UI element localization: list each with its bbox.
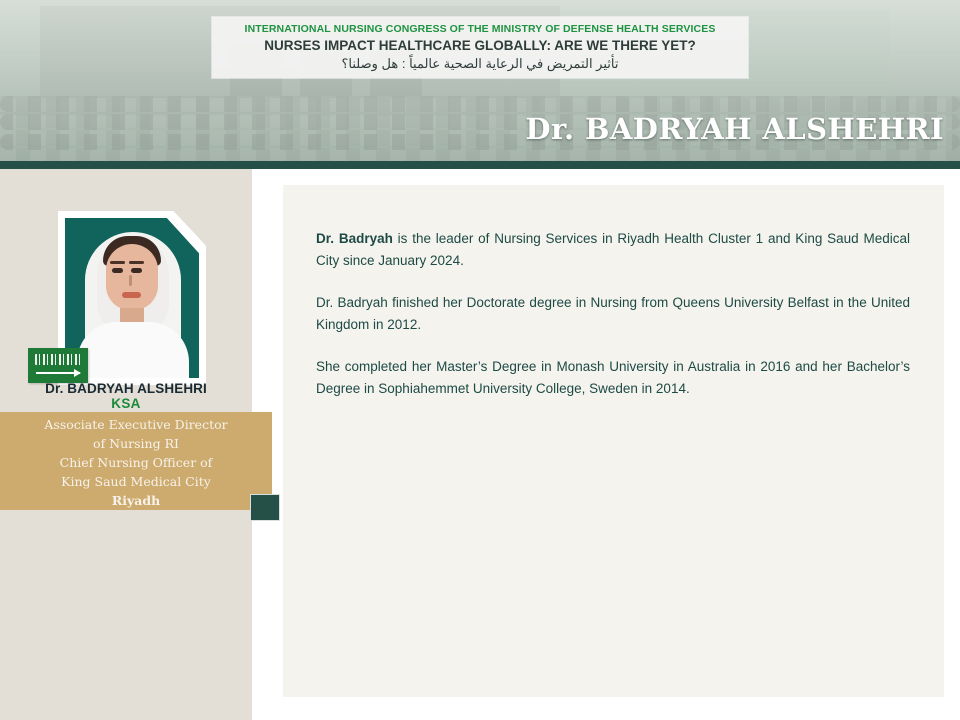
congress-theme-arabic-line: تأثير التمريض في الرعاية الصحية عالمياً …	[342, 55, 619, 72]
congress-title-banner: INTERNATIONAL NURSING CONGRESS OF THE MI…	[212, 17, 748, 78]
biography-lead-name: Dr. Badryah	[316, 231, 393, 246]
speaker-title-box: Associate Executive Director of Nursing …	[0, 412, 272, 510]
speaker-title-line: Chief Nursing Officer of	[60, 453, 213, 472]
header-banner: INTERNATIONAL NURSING CONGRESS OF THE MI…	[0, 0, 960, 162]
biography-paragraph-1-rest: is the leader of Nursing Services in Riy…	[316, 231, 910, 268]
congress-organization-line: INTERNATIONAL NURSING CONGRESS OF THE MI…	[245, 23, 716, 36]
slide: INTERNATIONAL NURSING CONGRESS OF THE MI…	[0, 0, 960, 720]
biography-text: Dr. Badryah is the leader of Nursing Ser…	[316, 228, 910, 399]
biography-panel: Dr. Badryah is the leader of Nursing Ser…	[283, 185, 944, 697]
biography-paragraph-2: Dr. Badryah finished her Doctorate degre…	[316, 292, 910, 335]
speaker-title-line: of Nursing RI	[93, 434, 179, 453]
decorative-square	[250, 494, 280, 521]
sidebar-speaker-country: KSA	[0, 396, 252, 411]
speaker-title-line: King Saud Medical City	[61, 472, 211, 491]
speaker-city-line: Riyadh	[112, 491, 160, 510]
sidebar-speaker-name: Dr. BADRYAH ALSHEHRI	[0, 381, 252, 396]
biography-paragraph-3: She completed her Master’s Degree in Mon…	[316, 356, 910, 399]
congress-theme-line: NURSES IMPACT HEALTHCARE GLOBALLY: ARE W…	[264, 37, 696, 54]
biography-paragraph-1: Dr. Badryah is the leader of Nursing Ser…	[316, 228, 910, 271]
saudi-arabia-flag-icon	[28, 348, 88, 383]
header-divider-rule	[0, 161, 960, 169]
speaker-name-heading: Dr. BADRYAH ALSHEHRI	[525, 112, 944, 146]
speaker-title-line: Associate Executive Director	[44, 415, 227, 434]
